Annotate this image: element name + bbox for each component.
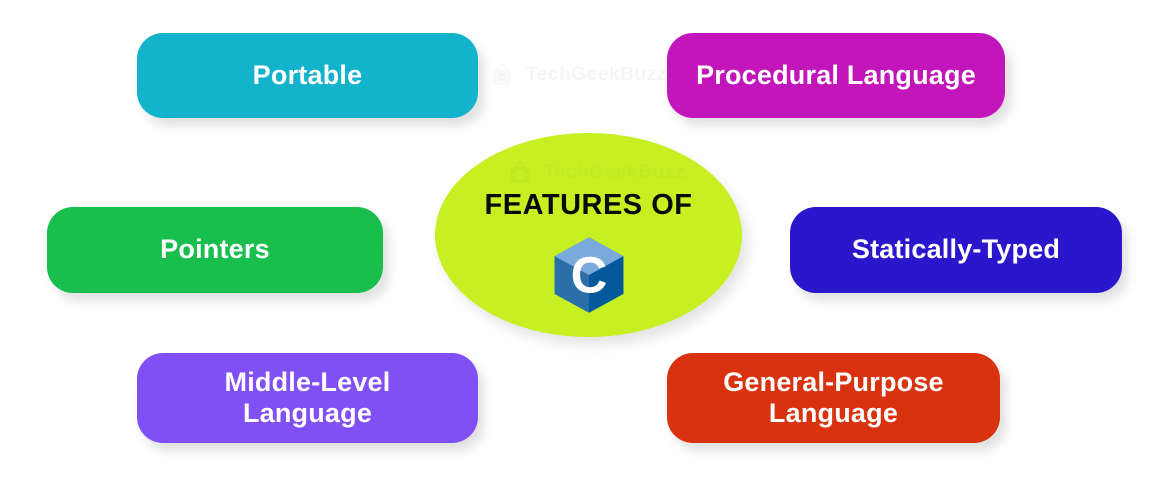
feature-pill-middle-level-language[interactable]: Middle-Level Language — [137, 353, 478, 443]
page-title: FEATURES OF — [485, 189, 693, 222]
feature-pill-pointers[interactable]: Pointers — [47, 207, 383, 293]
feature-pill-procedural-language[interactable]: Procedural Language — [667, 33, 1005, 118]
features-of-c-infographic: TechGeekBuzz FEATURES OF C TechGeekBuzz — [0, 0, 1168, 477]
watermark-text: TechGeekBuzz — [526, 64, 667, 86]
techgeekbuzz-logo-icon — [487, 60, 517, 90]
feature-label: Pointers — [160, 234, 270, 265]
feature-label: Portable — [253, 60, 363, 91]
svg-text:C: C — [570, 247, 607, 304]
feature-label: Statically-Typed — [852, 234, 1060, 265]
watermark-top: TechGeekBuzz — [487, 60, 667, 90]
feature-pill-statically-typed[interactable]: Statically-Typed — [790, 207, 1122, 293]
c-language-logo-icon: C — [548, 234, 630, 316]
feature-pill-portable[interactable]: Portable — [137, 33, 478, 118]
feature-label: Procedural Language — [696, 60, 976, 91]
center-ellipse: FEATURES OF C — [435, 133, 742, 337]
feature-label: General-Purpose Language — [723, 367, 944, 430]
feature-label: Middle-Level Language — [225, 367, 391, 430]
feature-pill-general-purpose-language[interactable]: General-Purpose Language — [667, 353, 1000, 443]
